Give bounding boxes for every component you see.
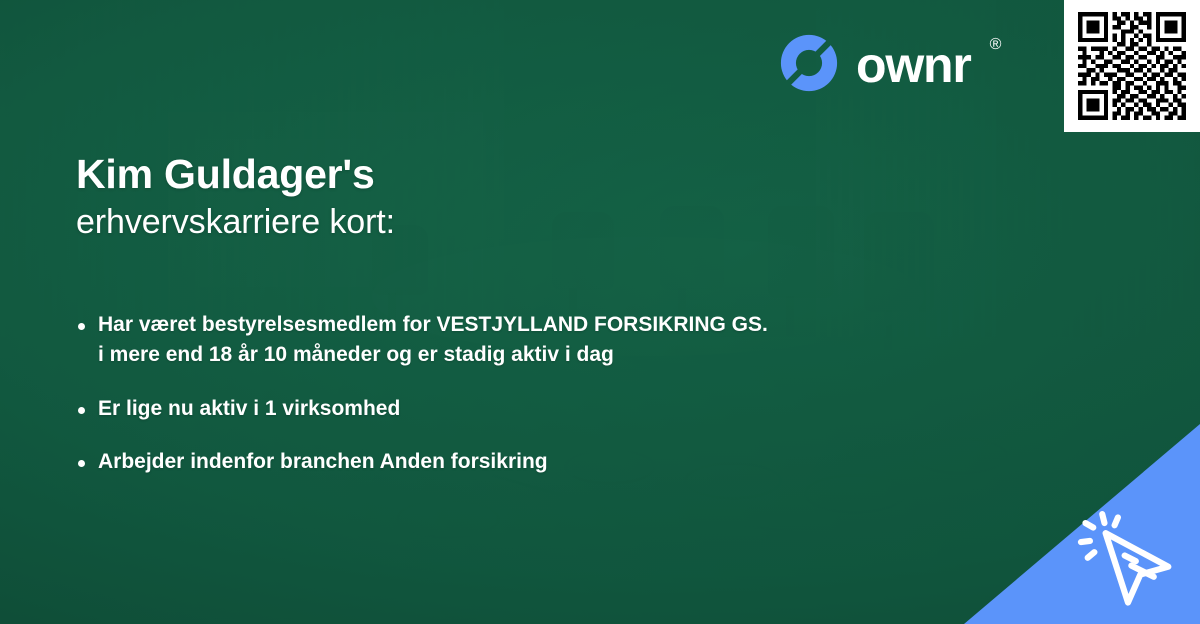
ownr-wordmark: ownr <box>856 40 971 90</box>
click-cursor-icon <box>1072 504 1184 616</box>
page-subtitle: erhvervskarriere kort: <box>76 203 395 241</box>
business-career-card: Kim Guldager's erhvervskarriere kort: Ha… <box>0 0 1200 624</box>
card-content: Kim Guldager's erhvervskarriere kort: Ha… <box>0 0 1200 624</box>
bullet-dot-icon <box>78 407 85 414</box>
list-item: Arbejder indenfor branchen Anden forsikr… <box>78 447 960 477</box>
fact-text: Arbejder indenfor branchen Anden forsikr… <box>98 447 548 477</box>
ownr-ring-icon <box>778 32 840 94</box>
person-name: Kim Guldager's <box>76 152 395 198</box>
corner-accent <box>964 424 1200 624</box>
qr-code-panel[interactable] <box>1064 0 1200 132</box>
ownr-logo[interactable]: ownr ® <box>778 32 998 94</box>
facts-list: Har været bestyrelsesmedlem for VESTJYLL… <box>78 310 960 501</box>
fact-text: Er lige nu aktiv i 1 virksomhed <box>98 394 400 424</box>
page-title: Kim Guldager's erhvervskarriere kort: <box>76 152 395 241</box>
bullet-dot-icon <box>78 460 85 467</box>
list-item: Er lige nu aktiv i 1 virksomhed <box>78 394 960 424</box>
registered-trademark-icon: ® <box>990 36 1002 54</box>
list-item: Har været bestyrelsesmedlem for VESTJYLL… <box>78 310 960 370</box>
fact-text: Har været bestyrelsesmedlem for VESTJYLL… <box>98 310 768 370</box>
bullet-dot-icon <box>78 323 85 330</box>
qr-code-icon[interactable] <box>1078 12 1186 120</box>
